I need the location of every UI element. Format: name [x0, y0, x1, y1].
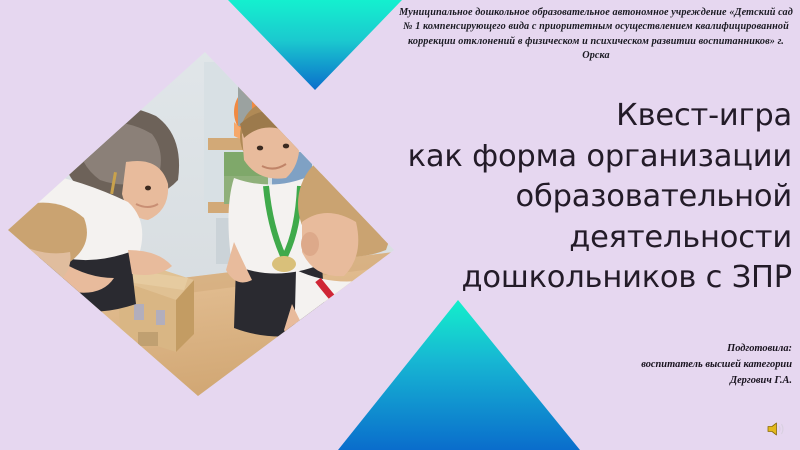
title-line-5: дошкольников с ЗПР — [330, 258, 792, 299]
author-role: воспитатель высшей категории — [520, 357, 792, 373]
author-label: Подготовила: — [520, 341, 792, 357]
author-name: Дергович Г.А. — [520, 373, 792, 389]
title-line-1: Квест-игра — [330, 96, 792, 137]
author-attribution: Подготовила: воспитатель высшей категори… — [520, 341, 792, 389]
speaker-icon[interactable] — [766, 420, 786, 438]
title-line-4: деятельности — [330, 218, 792, 259]
title-line-2: как форма организации — [330, 137, 792, 178]
institution-name: Муниципальное дошкольное образовательное… — [398, 6, 794, 64]
institution-line-1: Муниципальное дошкольное образовательное… — [399, 7, 727, 18]
title-line-3: образовательной — [330, 177, 792, 218]
presentation-slide: Муниципальное дошкольное образовательное… — [0, 0, 800, 450]
page-title: Квест-игра как форма организации образов… — [330, 96, 792, 299]
